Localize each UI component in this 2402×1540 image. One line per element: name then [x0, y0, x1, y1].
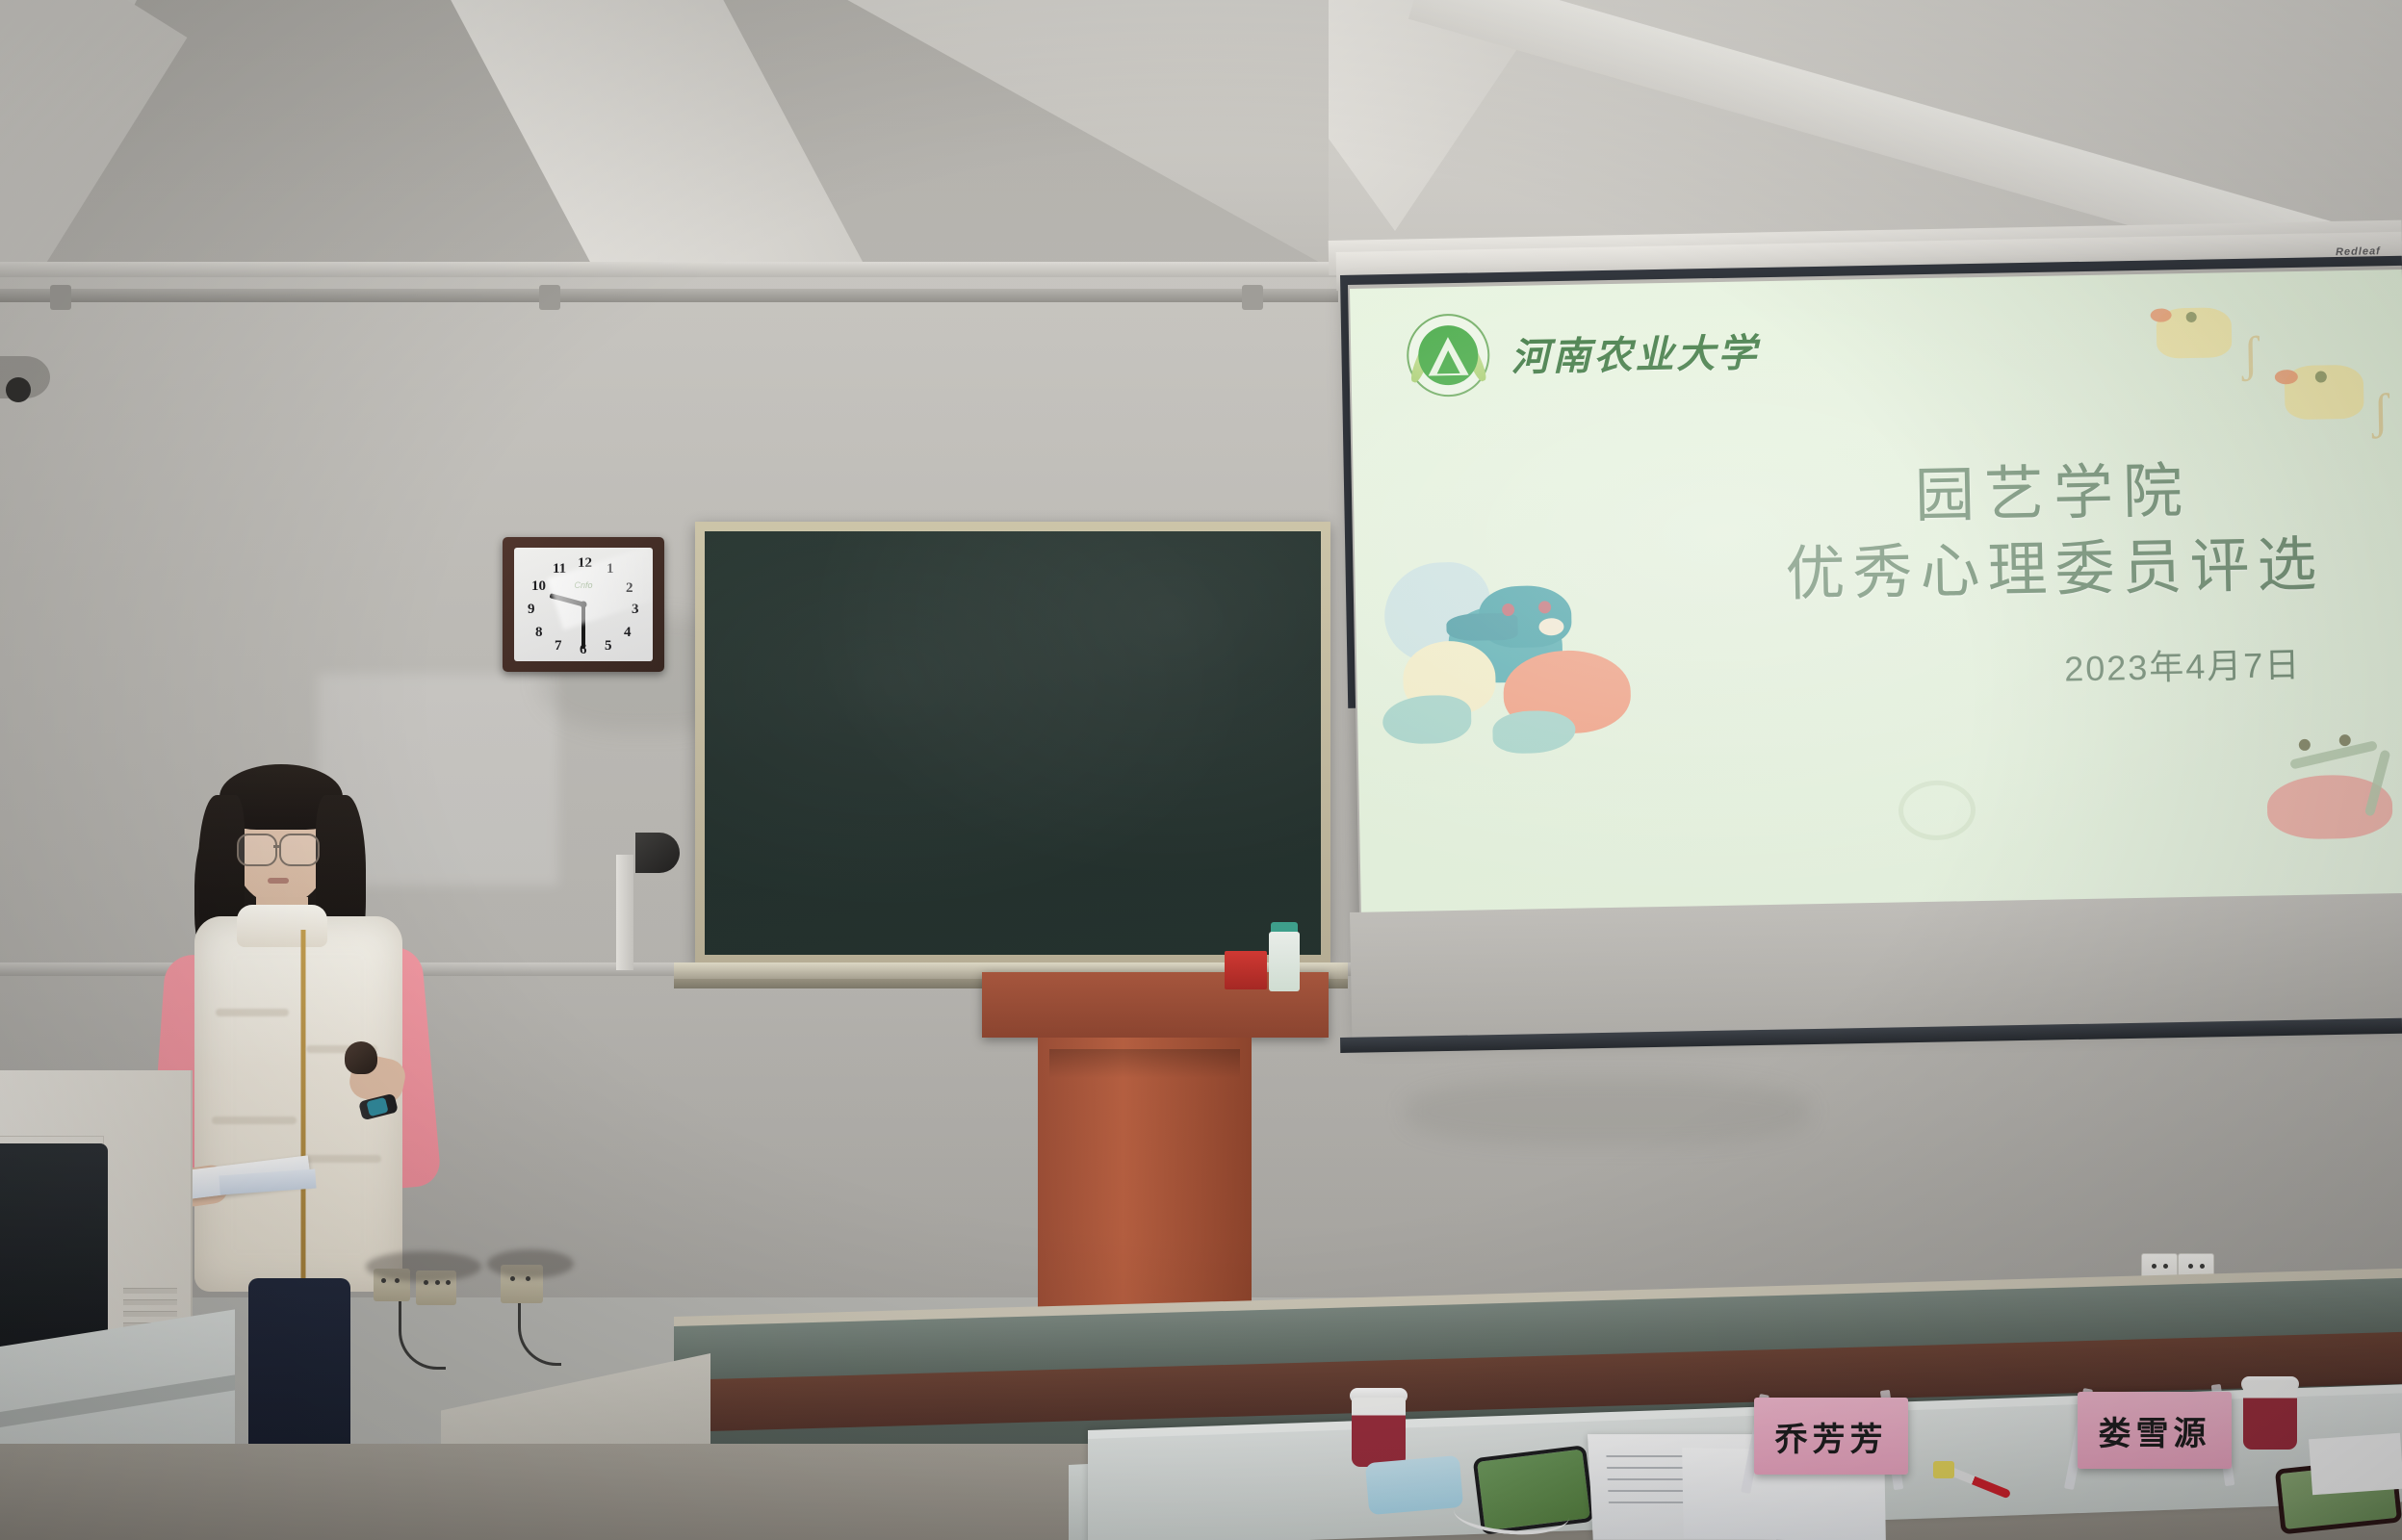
conduit-bracket-1 [50, 285, 71, 310]
presentation-slide: 河南农业大学 园艺学院 优秀心理委员评选 2023年4月7日 ʃ ʃ [1350, 269, 2402, 914]
presenter-vest-zipper [301, 930, 306, 1284]
name-card-right: 娄雪源 [2078, 1392, 2232, 1469]
red-box-on-ledge [1225, 951, 1267, 989]
screen-blank-area [1350, 893, 2402, 1039]
clock-numeral-5: 5 [605, 638, 612, 654]
name-card-right-text: 娄雪源 [2099, 1407, 2211, 1454]
vest-crease-1 [216, 1009, 289, 1016]
teal-leaf-1-icon [1382, 695, 1472, 745]
name-card-left: 乔芳芳 [1754, 1398, 1908, 1475]
wall-clock: 12 1 2 3 4 5 6 7 8 9 10 11 Cnfo [503, 537, 664, 672]
blackboard [695, 522, 1330, 964]
duck-tail-1-icon: ʃ [2242, 326, 2260, 383]
clock-numeral-4: 4 [624, 625, 632, 641]
university-emblem-icon [1407, 313, 1491, 398]
eyeglasses-right-lens-icon [279, 834, 320, 866]
presenter-mouth [268, 878, 289, 884]
paper-right [2309, 1433, 2402, 1495]
slide-date: 2023年4月7日 [2064, 637, 2302, 692]
paper-cup-left [1352, 1398, 1406, 1467]
clock-numeral-8: 8 [535, 625, 543, 641]
wall-grime-left-2 [487, 1249, 574, 1278]
eyeglasses-bridge-icon [273, 845, 281, 848]
classroom-photo: 12 1 2 3 4 5 6 7 8 9 10 11 Cnfo Redleaf [0, 0, 2402, 1540]
face-mask [1365, 1455, 1463, 1515]
water-bottle [1269, 932, 1300, 991]
frog-mascot-muzzle-icon [1446, 613, 1518, 641]
duck-tail-2-icon: ʃ [2372, 383, 2389, 440]
clock-face: 12 1 2 3 4 5 6 7 8 9 10 11 Cnfo [514, 548, 653, 661]
presentation-clicker [345, 1041, 377, 1074]
university-name: 河南农业大学 [1511, 321, 1760, 382]
teal-leaf-2-icon [1492, 710, 1576, 755]
pink-animal-eye-left-icon [2299, 739, 2311, 751]
clock-numeral-10: 10 [531, 578, 546, 595]
name-card-left-text: 乔芳芳 [1775, 1413, 1888, 1460]
socket-cable-left-2 [518, 1303, 561, 1366]
vest-crease-3 [212, 1116, 297, 1124]
lectern-shadow [1049, 1049, 1240, 1078]
presenter-vest-collar [237, 905, 327, 947]
pink-animal-eye-right-icon [2339, 734, 2351, 746]
wall-grime-left [366, 1251, 481, 1282]
conduit-bracket-2 [539, 285, 560, 310]
slide-title-line2: 优秀心理委员评选 [1785, 528, 2325, 615]
slide-logo-row: 河南农业大学 [1407, 308, 1761, 398]
conduit-bracket-3 [1242, 285, 1263, 310]
wall-speaker [635, 833, 680, 873]
slide-title-line1: 园艺学院 [1783, 452, 2323, 539]
vest-crease-4 [304, 1155, 381, 1163]
green-ring-decoration-icon [1898, 780, 1976, 840]
wall-stain-2 [1406, 1078, 1810, 1145]
paper-cup-right [2243, 1380, 2297, 1450]
eraser [1933, 1461, 1954, 1478]
clock-numeral-9: 9 [528, 602, 535, 618]
speaker-mount-post [616, 855, 633, 970]
slide-title-block: 园艺学院 优秀心理委员评选 [1783, 452, 2325, 615]
eyeglasses-left-lens-icon [237, 834, 277, 866]
blackboard-surface [705, 531, 1321, 955]
clock-numeral-7: 7 [555, 638, 562, 654]
wall-conduit [0, 289, 1338, 302]
camera-lens-icon [6, 377, 31, 402]
